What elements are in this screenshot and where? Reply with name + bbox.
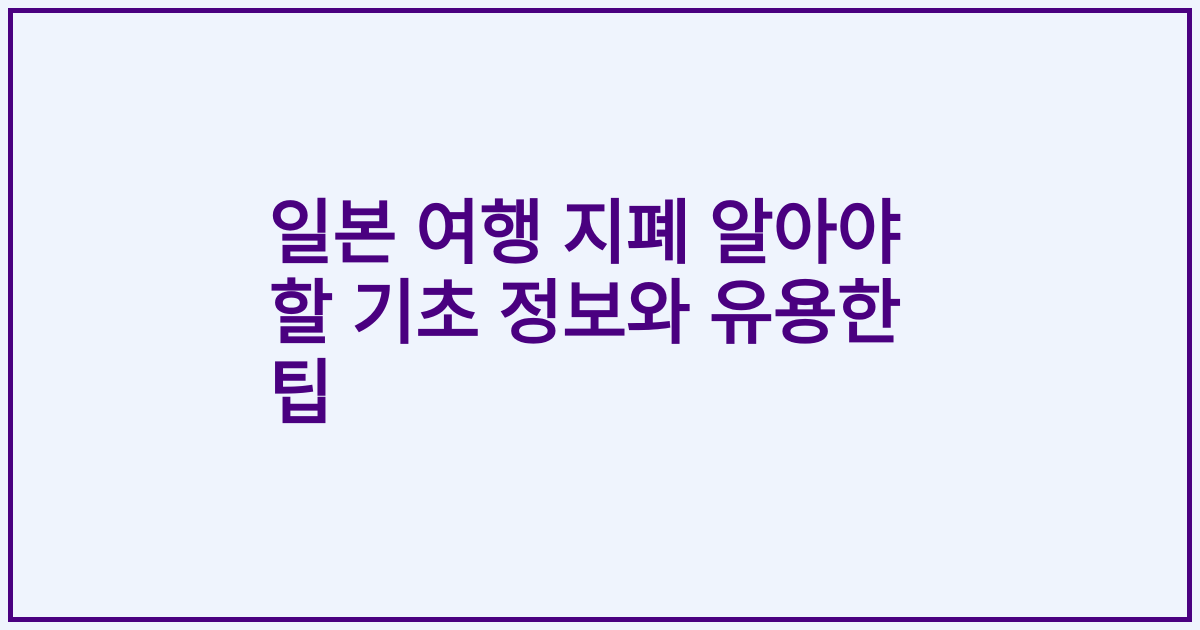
card-border-frame: 일본 여행 지폐 알아야 할 기초 정보와 유용한 팁 bbox=[8, 8, 1192, 622]
title-area: 일본 여행 지폐 알아야 할 기초 정보와 유용한 팁 bbox=[13, 13, 1187, 617]
page-title: 일본 여행 지폐 알아야 할 기초 정보와 유용한 팁 bbox=[269, 193, 937, 433]
thumbnail-card: 일본 여행 지폐 알아야 할 기초 정보와 유용한 팁 bbox=[0, 0, 1200, 630]
title-block: 일본 여행 지폐 알아야 할 기초 정보와 유용한 팁 bbox=[269, 193, 937, 433]
